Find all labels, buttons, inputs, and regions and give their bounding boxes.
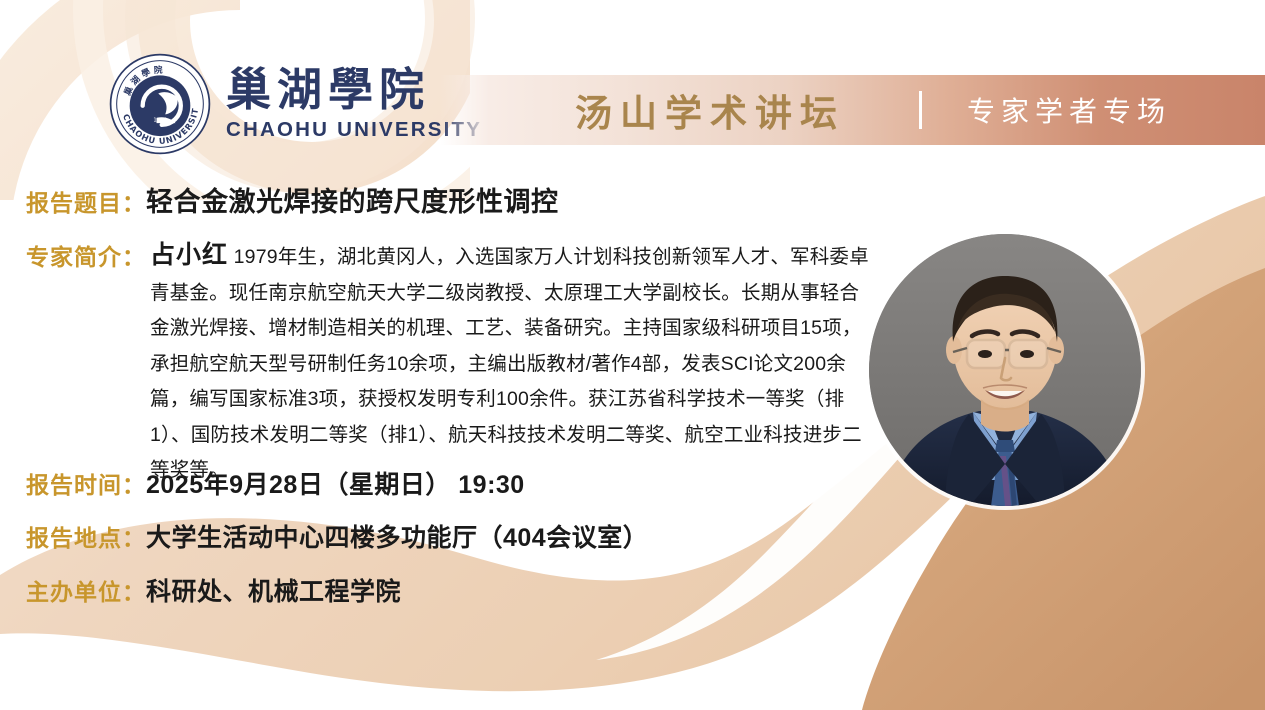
forum-banner-title: 汤山学术讲坛 [575,83,845,137]
talk-host-value: 科研处、机械工程学院 [146,572,401,608]
speaker-bio-row: 专家简介： 占小红 1979年生，湖北黄冈人，入选国家万人计划科技创新领军人才、… [26,238,886,489]
speaker-bio-text: 1979年生，湖北黄冈人，入选国家万人计划科技创新领军人才、军科委卓青基金。现任… [150,246,869,481]
talk-place-value: 大学生活动中心四楼多功能厅（404会议室） [146,518,648,554]
talk-place-label: 报告地点： [26,519,146,553]
talk-host-row: 主办单位： 科研处、机械工程学院 [26,572,401,608]
poster-header: 1977 巢 湖 學 院 CHAOHU UNIVERSITY 巢湖學院 CHAO… [0,0,1265,160]
svg-text:1977: 1977 [153,117,166,123]
speaker-bio-body: 占小红 1979年生，湖北黄冈人，入选国家万人计划科技创新领军人才、军科委卓青基… [150,238,878,489]
talk-time-label: 报告时间： [26,466,146,500]
talk-title-label: 报告题目： [26,184,146,218]
speaker-portrait [869,234,1141,506]
forum-banner: 汤山学术讲坛 专家学者专场 [440,75,1265,145]
banner-divider [919,91,922,129]
talk-title-row: 报告题目： 轻合金激光焊接的跨尺度形性调控 [26,180,559,219]
talk-title-value: 轻合金激光焊接的跨尺度形性调控 [146,180,559,219]
chaohu-university-seal-icon: 1977 巢 湖 學 院 CHAOHU UNIVERSITY [108,52,212,156]
talk-time-row: 报告时间： 2025年9月28日（星期日） 19:30 [26,465,525,501]
university-brand: 1977 巢 湖 學 院 CHAOHU UNIVERSITY 巢湖學院 CHAO… [108,52,482,156]
speaker-bio-label: 专家简介： [26,238,146,272]
talk-time-value: 2025年9月28日（星期日） 19:30 [146,465,525,501]
talk-host-label: 主办单位： [26,573,146,607]
talk-place-row: 报告地点： 大学生活动中心四楼多功能厅（404会议室） [26,518,648,554]
speaker-name: 占小红 [150,241,228,269]
forum-banner-subtitle: 专家学者专场 [967,90,1171,130]
seminar-poster: 1977 巢 湖 學 院 CHAOHU UNIVERSITY 巢湖學院 CHAO… [0,0,1265,710]
wave-light-secondary [0,647,620,710]
